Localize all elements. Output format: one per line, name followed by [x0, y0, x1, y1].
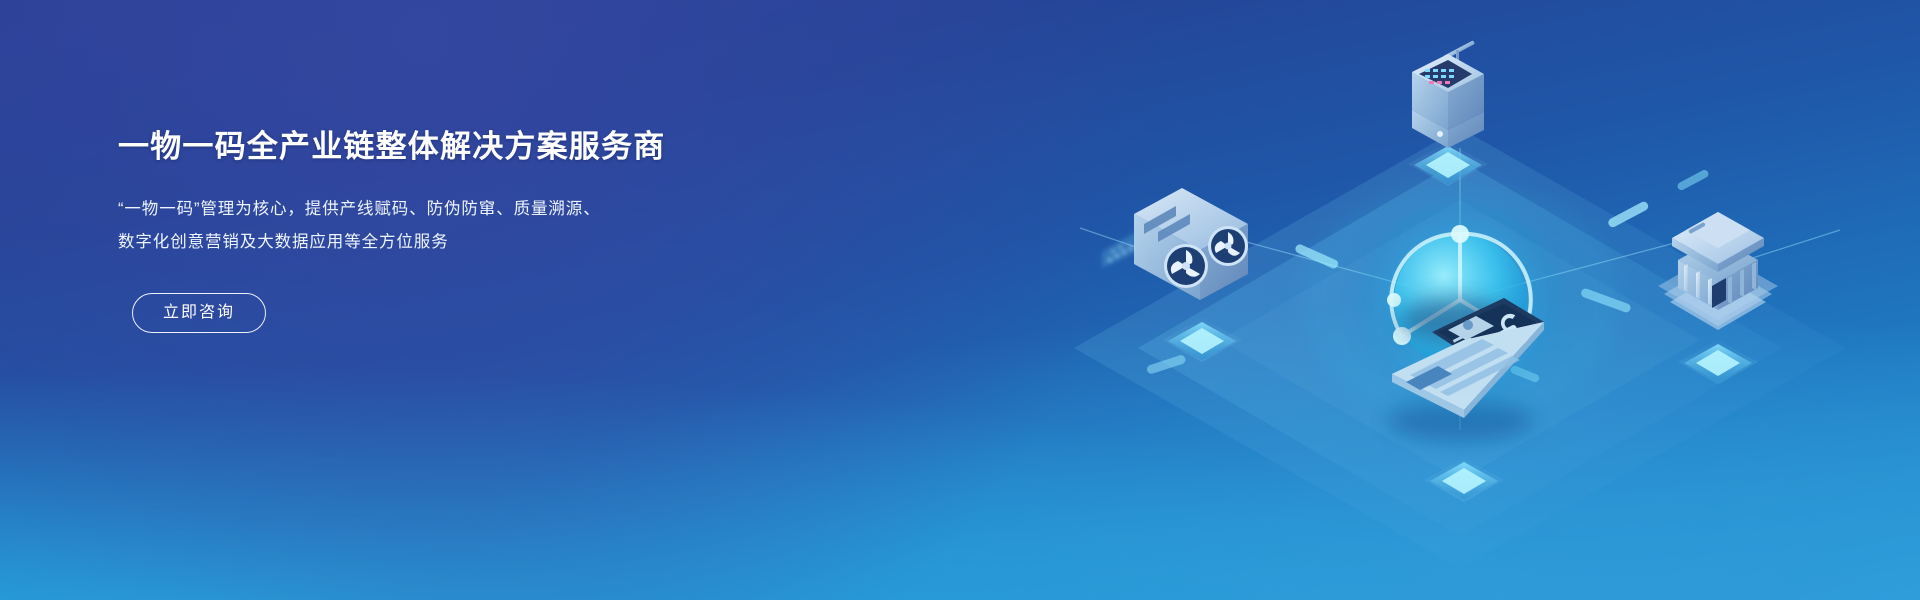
pos-terminal-icon	[1408, 40, 1488, 186]
consult-now-button[interactable]: 立即咨询	[132, 293, 266, 333]
hero-text-block: 一物一码全产业链整体解决方案服务商 “一物一码”管理为核心，提供产线赋码、防伪防…	[118, 128, 938, 333]
hero-illustration	[1040, 0, 1920, 600]
hero-banner: 一物一码全产业链整体解决方案服务商 “一物一码”管理为核心，提供产线赋码、防伪防…	[0, 0, 1920, 600]
page-title: 一物一码全产业链整体解决方案服务商	[118, 128, 938, 167]
subtitle-line-1: “一物一码”管理为核心，提供产线赋码、防伪防窜、质量溯源、	[118, 193, 938, 226]
subtitle-line-2: 数字化创意营销及大数据应用等全方位服务	[118, 226, 938, 259]
